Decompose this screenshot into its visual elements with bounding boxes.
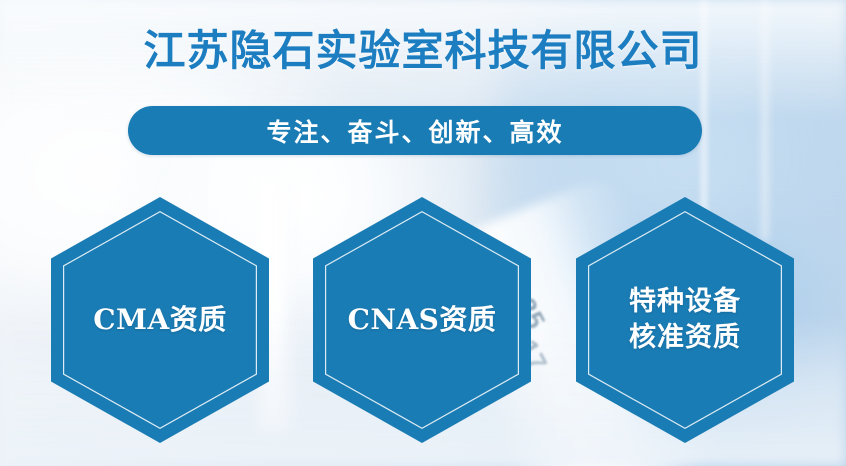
- poster-content: 江苏隐石实验室科技有限公司 专注、奋斗、创新、高效 CMA资质 CNAS资质 特…: [0, 0, 846, 466]
- promo-poster: 0.25 0.17 江苏隐石实验室科技有限公司 专注、奋斗、创新、高效 CMA资…: [0, 0, 846, 466]
- badge-hexagon-cma[interactable]: CMA资质: [51, 197, 269, 443]
- badge-hexagon-special-equipment[interactable]: 特种设备 核准资质: [576, 197, 794, 443]
- slogan-text: 专注、奋斗、创新、高效: [266, 113, 563, 149]
- certification-badge-row: CMA资质 CNAS资质 特种设备 核准资质: [0, 197, 846, 443]
- badge-hexagon-cnas[interactable]: CNAS资质: [313, 197, 531, 443]
- badge-label-cnas: CNAS资质: [348, 302, 497, 339]
- badge-label-special-equipment: 特种设备 核准资质: [629, 284, 741, 357]
- company-title: 江苏隐石实验室科技有限公司: [0, 26, 846, 76]
- badge-label-cma: CMA资质: [93, 302, 227, 339]
- slogan-banner: 专注、奋斗、创新、高效: [128, 106, 702, 155]
